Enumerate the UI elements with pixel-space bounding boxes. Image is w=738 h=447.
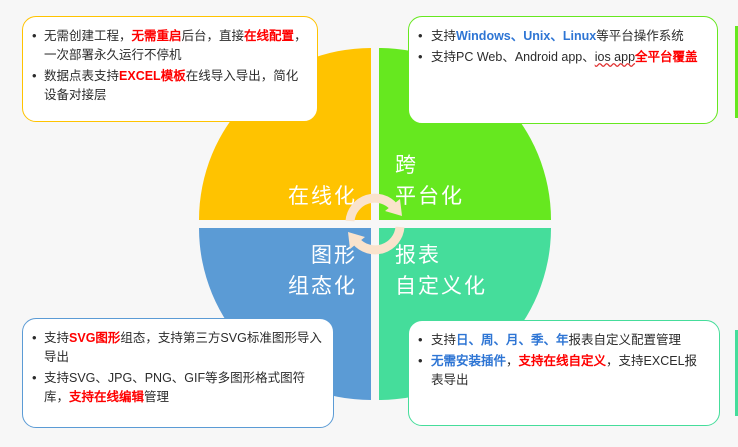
text-run: 支持在线编辑: [69, 390, 144, 404]
list-item: 无需安装插件，支持在线自定义，支持EXCEL报表导出: [417, 352, 709, 390]
callout-graphic-configuration: 支持SVG图形组态，支持第三方SVG标准图形导入导出 支持SVG、JPG、PNG…: [22, 318, 334, 428]
text-run: EXCEL模板: [119, 69, 186, 83]
quadrant-report-customization-label-line2: 自定义化: [395, 271, 487, 302]
quadrant-cross-platform-label: 跨 平台化: [395, 150, 464, 212]
quadrant-report-customization-label: 报表 自定义化: [395, 240, 487, 302]
text-run: 报表自定义配置管理: [569, 333, 682, 347]
text-run: 支持: [44, 331, 69, 345]
list-item: 支持Windows、Unix、Linux等平台操作系统: [417, 27, 707, 46]
diagram-canvas: 在线化 跨 平台化 图形 组态化 报表 自定义化: [0, 0, 738, 447]
text-run: SVG图形: [69, 331, 120, 345]
callout-cross-platform: 支持Windows、Unix、Linux等平台操作系统 支持PC Web、And…: [408, 16, 718, 124]
quadrant-online-label-line1: 在线化: [288, 185, 357, 208]
text-run: 后台，直接: [182, 29, 245, 43]
text-run: 全平台覆盖: [635, 50, 698, 64]
text-run: 支持在线自定义: [519, 354, 607, 368]
quadrant-graphic-configuration-label: 图形 组态化: [288, 240, 357, 302]
text-run: 等平台操作系统: [596, 29, 684, 43]
quadrant-cross-platform-label-line1: 跨: [395, 154, 418, 177]
callout-online: 无需创建工程，无需重启后台，直接在线配置，一次部署永久运行不停机 数据点表支持E…: [22, 16, 318, 122]
text-run: 无需创建工程，: [44, 29, 132, 43]
list-item: 支持SVG图形组态，支持第三方SVG标准图形导入导出: [31, 329, 323, 367]
quadrant-report-customization-label-line1: 报表: [395, 244, 441, 267]
text-run: 支持PC Web、Android app、: [431, 50, 595, 64]
text-run: Windows、Unix、Linux: [456, 29, 596, 43]
text-run: 数据点表支持: [44, 69, 119, 83]
callout-report-customization: 支持日、周、月、季、年报表自定义配置管理 无需安装插件，支持在线自定义，支持EX…: [408, 320, 720, 426]
text-run: ios app: [595, 50, 635, 64]
text-run: 支持: [431, 333, 456, 347]
quadrant-online-label: 在线化: [288, 181, 357, 212]
callout-graphic-configuration-list: 支持SVG图形组态，支持第三方SVG标准图形导入导出 支持SVG、JPG、PNG…: [31, 329, 323, 407]
list-item: 支持PC Web、Android app、ios app全平台覆盖: [417, 48, 707, 67]
quadrant-graphic-configuration-label-line2: 组态化: [288, 271, 357, 302]
list-item: 支持日、周、月、季、年报表自定义配置管理: [417, 331, 709, 350]
list-item: 支持SVG、JPG、PNG、GIF等多图形格式图符库，支持在线编辑管理: [31, 369, 323, 407]
callout-report-customization-list: 支持日、周、月、季、年报表自定义配置管理 无需安装插件，支持在线自定义，支持EX…: [417, 331, 709, 390]
text-run: 管理: [144, 390, 169, 404]
text-run: 无需重启: [132, 29, 182, 43]
text-run: 在线配置: [244, 29, 294, 43]
quadrant-graphic-configuration-label-line1: 图形: [311, 244, 357, 267]
callout-online-list: 无需创建工程，无需重启后台，直接在线配置，一次部署永久运行不停机 数据点表支持E…: [31, 27, 307, 105]
text-run: 支持: [431, 29, 456, 43]
callout-cross-platform-list: 支持Windows、Unix、Linux等平台操作系统 支持PC Web、And…: [417, 27, 707, 67]
list-item: 数据点表支持EXCEL模板在线导入导出，简化设备对接层: [31, 67, 307, 105]
text-run: ，: [506, 354, 519, 368]
text-run: 无需安装插件: [431, 354, 506, 368]
quadrant-cross-platform-label-line2: 平台化: [395, 181, 464, 212]
text-run: 日、周、月、季、年: [456, 333, 569, 347]
list-item: 无需创建工程，无需重启后台，直接在线配置，一次部署永久运行不停机: [31, 27, 307, 65]
